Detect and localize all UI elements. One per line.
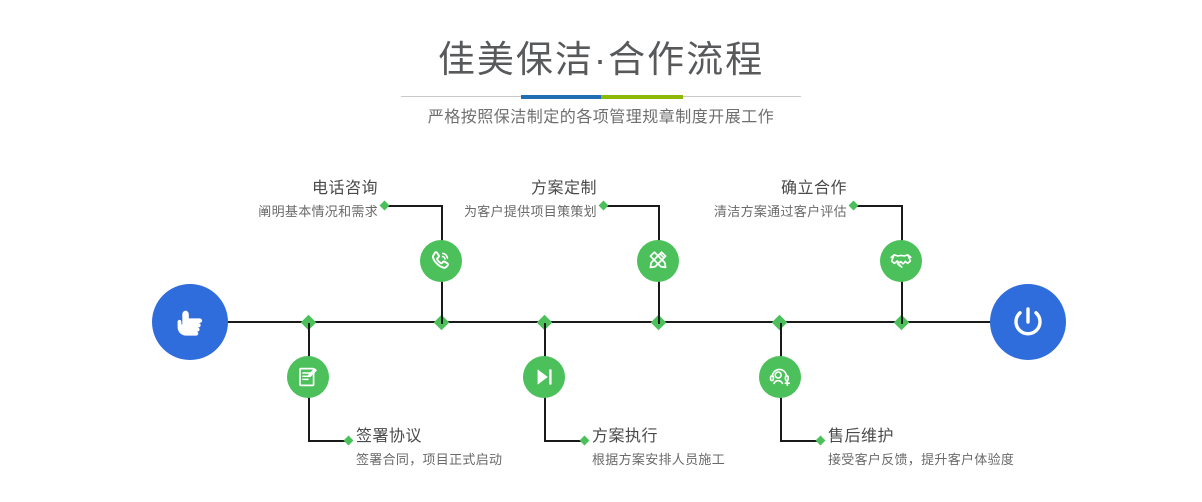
phone-call-icon [428, 248, 454, 274]
step-label-5: 确立合作 清洁方案通过客户评估 [570, 178, 847, 222]
cooperation-process-infographic: 佳美保洁·合作流程 严格按照保洁制定的各项管理规章制度开展工作 [0, 0, 1202, 502]
header: 佳美保洁·合作流程 严格按照保洁制定的各项管理规章制度开展工作 [0, 0, 1202, 145]
step-node-4[interactable] [523, 356, 565, 398]
page-subtitle: 严格按照保洁制定的各项管理规章制度开展工作 [0, 106, 1202, 130]
step-node-1[interactable] [420, 240, 462, 282]
pencil-ruler-icon [645, 248, 671, 274]
pointing-hand-icon [169, 301, 211, 343]
support-agent-add-icon [767, 364, 793, 390]
divider-blue-segment [521, 95, 601, 99]
step-node-3[interactable] [637, 240, 679, 282]
step-label-6: 售后维护 接受客户反馈，提升客户体验度 [828, 426, 1168, 470]
step-node-5[interactable] [880, 240, 922, 282]
page-title: 佳美保洁·合作流程 [0, 38, 1202, 82]
step-desc: 接受客户反馈，提升客户体验度 [828, 450, 1168, 470]
step-node-6[interactable] [759, 356, 801, 398]
title-divider [401, 95, 801, 99]
step-desc: 为客户提供项目策策划 [320, 202, 597, 222]
step-desc: 清洁方案通过客户评估 [570, 202, 847, 222]
timeline-start-marker [152, 284, 228, 360]
step-title: 方案定制 [320, 178, 597, 200]
timeline: 电话咨询 阐明基本情况和需求 签署协议 签署合同，项目正式启动 [0, 145, 1202, 502]
timeline-axis [155, 321, 1045, 323]
timeline-end-marker [990, 284, 1066, 360]
step-connector-dot [344, 436, 354, 446]
handshake-icon [888, 248, 914, 274]
divider-green-segment [601, 95, 683, 99]
step-node-2[interactable] [287, 356, 329, 398]
step-connector-dot [849, 201, 859, 211]
document-edit-icon [295, 364, 321, 390]
step-title: 售后维护 [828, 426, 1168, 448]
play-forward-icon [531, 364, 557, 390]
step-title: 确立合作 [570, 178, 847, 200]
power-icon [1006, 300, 1050, 344]
step-connector-leg [855, 205, 903, 207]
step-label-3: 方案定制 为客户提供项目策策划 [320, 178, 597, 222]
